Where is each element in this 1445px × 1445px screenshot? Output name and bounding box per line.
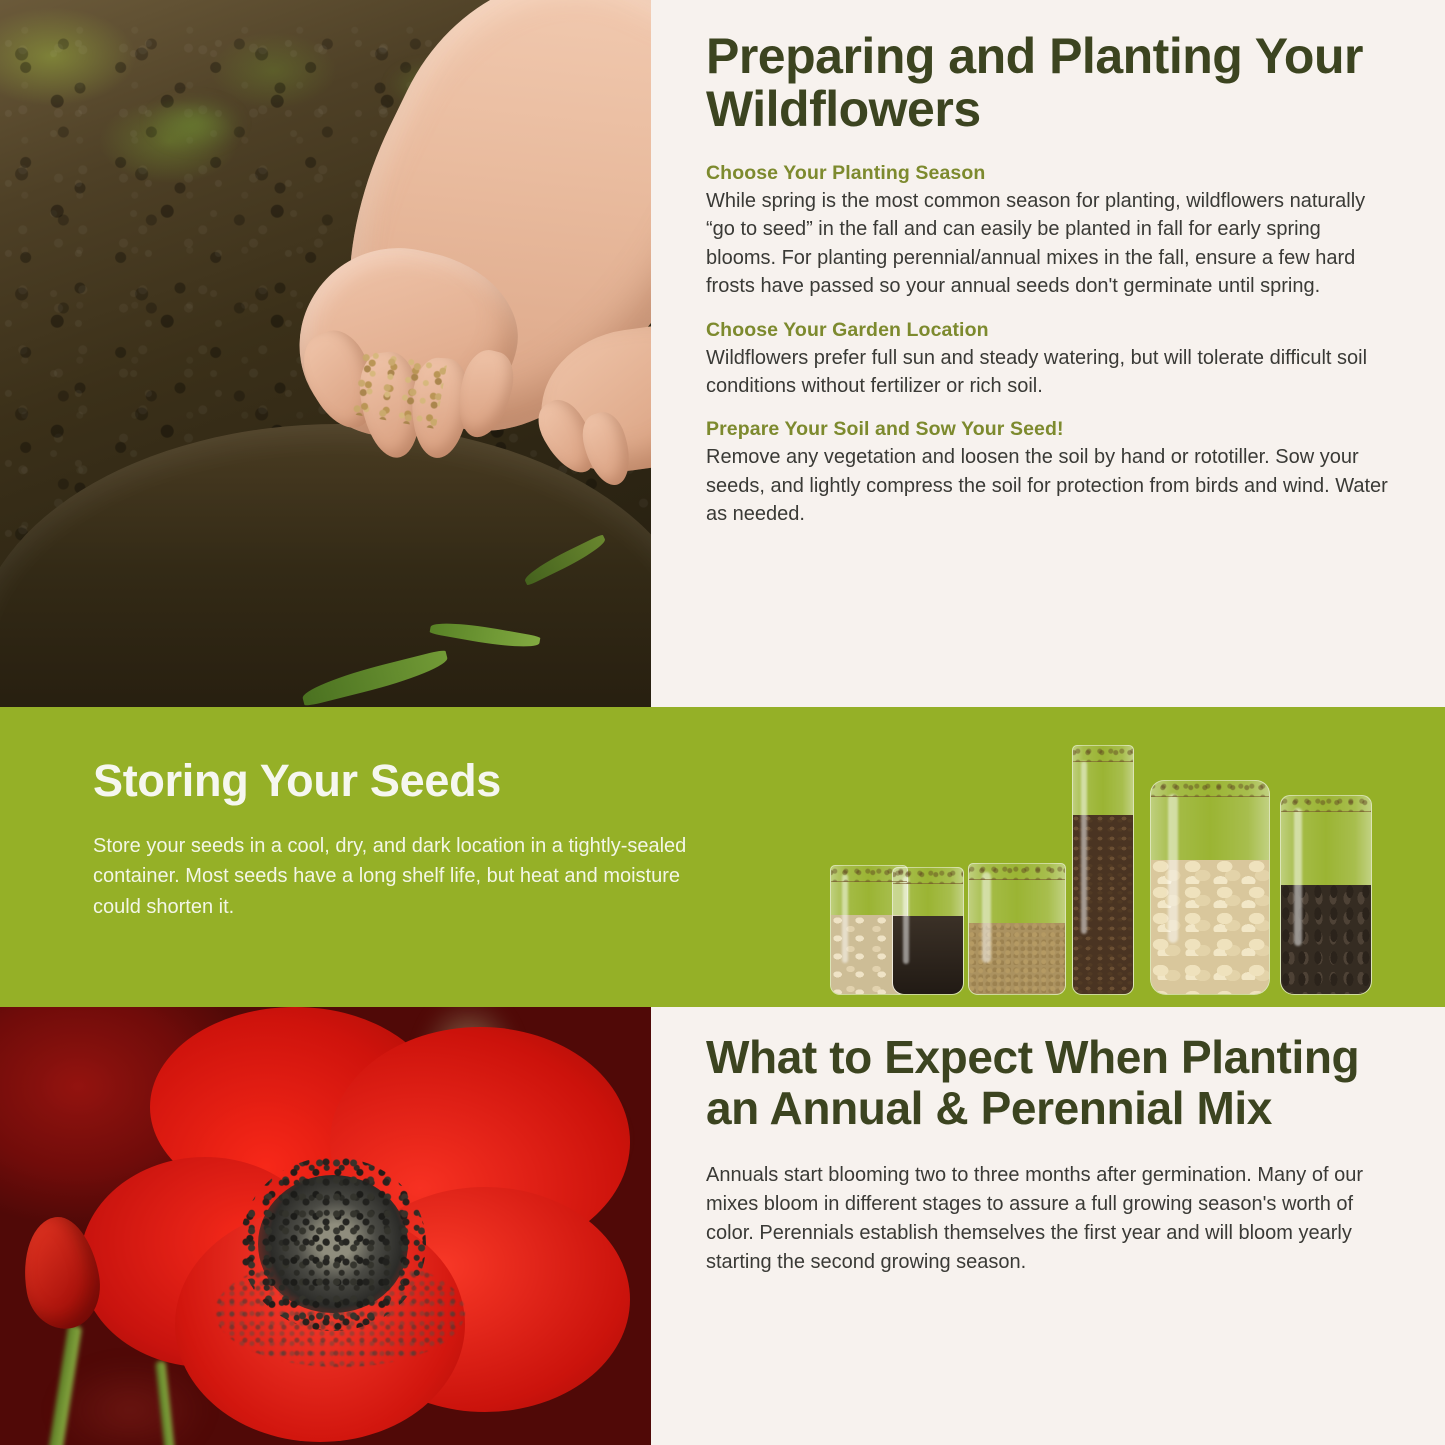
cork-lid-icon <box>1280 795 1372 812</box>
cork-lid-icon <box>1072 745 1134 762</box>
cork-lid-icon <box>1150 780 1270 797</box>
glass-highlight <box>1168 794 1179 943</box>
bottom-title: What to Expect When Planting an Annual &… <box>706 1032 1390 1133</box>
body-planting-season: While spring is the most common season f… <box>706 187 1390 301</box>
band-text-column: Storing Your Seeds Store your seeds in a… <box>93 755 733 922</box>
subheading-prepare-soil: Prepare Your Soil and Sow Your Seed! <box>706 418 1390 441</box>
glass-highlight <box>1294 808 1302 947</box>
content-block-prepare-soil: Prepare Your Soil and Sow Your Seed! Rem… <box>706 418 1390 528</box>
infographic-page: Preparing and Planting Your Wildflowers … <box>0 0 1445 1445</box>
body-prepare-soil: Remove any vegetation and loosen the soi… <box>706 443 1390 528</box>
seed-jar <box>1280 795 1372 995</box>
bottom-text-column: What to Expect When Planting an Annual &… <box>651 1007 1445 1445</box>
poppy-center <box>258 1175 408 1313</box>
bottom-body: Annuals start blooming two to three mont… <box>706 1161 1390 1277</box>
spacer <box>706 301 1390 319</box>
cork-lid-icon <box>968 863 1066 880</box>
seed-jar <box>1072 745 1134 995</box>
seed-jar <box>1150 780 1270 995</box>
bottom-section: What to Expect When Planting an Annual &… <box>0 1007 1445 1445</box>
seed-jar <box>968 863 1066 995</box>
seed-jars-photo <box>820 715 1420 1007</box>
seed-jar <box>892 867 964 995</box>
stamens <box>240 1157 426 1331</box>
page-title: Preparing and Planting Your Wildflowers <box>706 30 1390 136</box>
top-section: Preparing and Planting Your Wildflowers … <box>0 0 1445 707</box>
storing-seeds-band: Storing Your Seeds Store your seeds in a… <box>0 707 1445 1007</box>
glass-highlight <box>903 876 909 964</box>
band-body: Store your seeds in a cool, dry, and dar… <box>93 831 733 922</box>
content-block-planting-season: Choose Your Planting Season While spring… <box>706 162 1390 301</box>
body-garden-location: Wildflowers prefer full sun and steady w… <box>706 344 1390 401</box>
soil-planting-photo <box>0 0 651 707</box>
glass-highlight <box>982 872 991 963</box>
cork-lid-icon <box>892 867 964 884</box>
subheading-garden-location: Choose Your Garden Location <box>706 319 1390 342</box>
content-block-garden-location: Choose Your Garden Location Wildflowers … <box>706 319 1390 401</box>
subheading-planting-season: Choose Your Planting Season <box>706 162 1390 185</box>
glass-highlight <box>1081 761 1086 935</box>
spacer <box>706 400 1390 418</box>
band-title: Storing Your Seeds <box>93 755 733 807</box>
glass-highlight <box>842 874 849 964</box>
top-text-column: Preparing and Planting Your Wildflowers … <box>651 0 1445 707</box>
red-poppy-photo <box>0 1007 651 1445</box>
